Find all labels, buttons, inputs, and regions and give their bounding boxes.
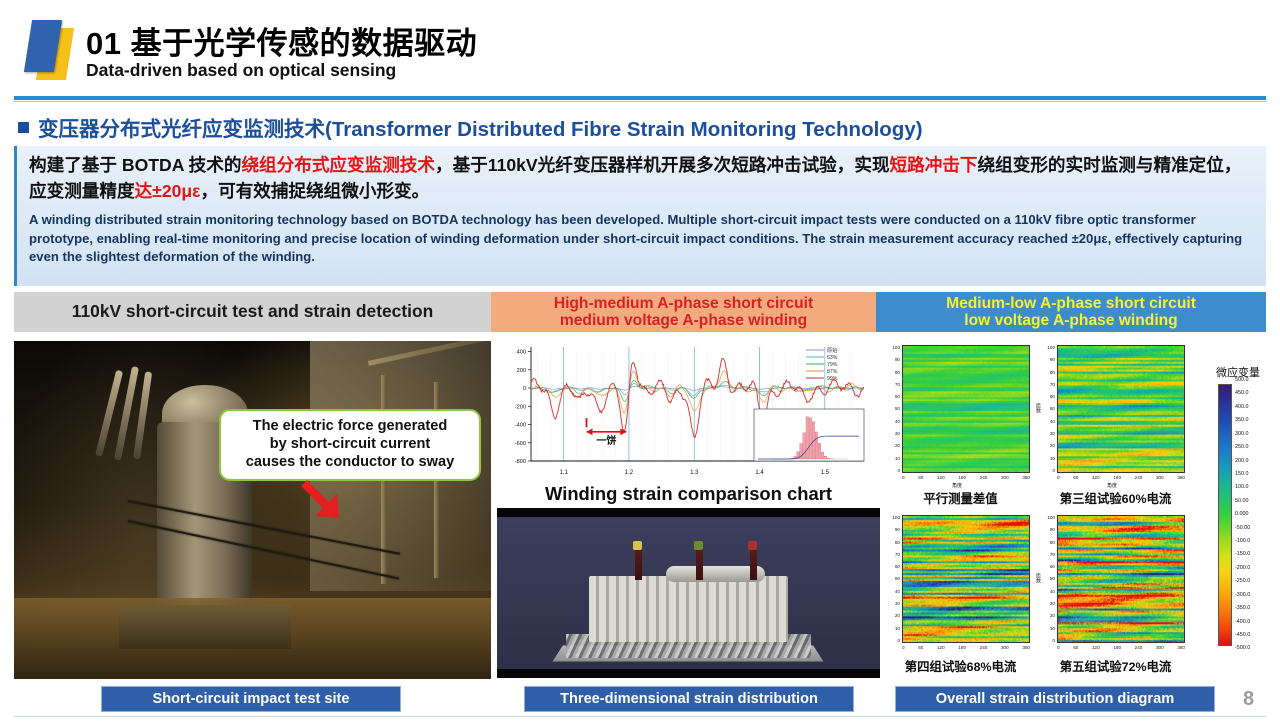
colorbar-tick: 500.0 xyxy=(1235,378,1277,383)
colorbar-tick: 50.00 xyxy=(1235,499,1277,504)
three-dimensional-strain-image xyxy=(497,508,880,678)
td-bushing-cap-2 xyxy=(694,541,703,550)
banner-right: Medium-low A-phase short circuit low vol… xyxy=(876,292,1266,332)
heatmap-panel-1: 1009080706050403020100 匝数 06012018024030… xyxy=(1043,341,1188,509)
page-number: 8 xyxy=(1243,688,1254,711)
caption-middle: Three-dimensional strain distribution xyxy=(524,686,854,712)
banner-middle-line1: High-medium A-phase short circuit xyxy=(554,295,813,312)
zh-highlight-2: 短路冲击下 xyxy=(890,155,978,175)
heatmap-1-caption: 第三组试验60%电流 xyxy=(1043,489,1188,507)
svg-text:200: 200 xyxy=(517,368,526,374)
heatmap-1-ylabel: 匝数 xyxy=(1035,403,1042,413)
slide-root: 01 基于光学传感的数据驱动 Data-driven based on opti… xyxy=(0,0,1280,723)
heatmap-ytick: 70 xyxy=(895,552,900,557)
heatmap-2-xticks: 060120180240300360 xyxy=(902,645,1030,650)
bullet-square-icon xyxy=(18,122,29,133)
banner-right-line2: low voltage A-phase winding xyxy=(946,312,1196,329)
heatmap-ytick: 0 xyxy=(897,468,900,473)
heatmap-3-ylabel: 匝数 xyxy=(1035,573,1042,583)
heatmap-3-xticks: 060120180240300360 xyxy=(1057,645,1185,650)
heatmap-xtick: 300 xyxy=(1001,645,1009,650)
heatmap-ytick: 90 xyxy=(895,357,900,362)
heatmap-xtick: 360 xyxy=(1022,645,1030,650)
heatmap-ytick: 90 xyxy=(1050,527,1055,532)
svg-text:1.1: 1.1 xyxy=(559,470,568,476)
column-banner-row: 110kV short-circuit test and strain dete… xyxy=(14,292,1266,332)
colorbar-tick: 250.0 xyxy=(1235,445,1277,450)
heatmap-xtick: 0 xyxy=(1057,475,1060,480)
heatmap-xtick: 120 xyxy=(937,475,945,480)
heatmap-ytick: 10 xyxy=(1050,456,1055,461)
heatmap-ytick: 70 xyxy=(1050,552,1055,557)
svg-text:1.4: 1.4 xyxy=(755,470,764,476)
zh-highlight-1: 绕组分布式应变监测技术 xyxy=(241,155,435,175)
heatmap-ytick: 90 xyxy=(895,527,900,532)
heatmap-xtick: 180 xyxy=(958,475,966,480)
td-bushing-cap-1 xyxy=(633,541,642,550)
td-bushing-cap-3 xyxy=(748,541,757,550)
heatmap-ytick: 30 xyxy=(895,601,900,606)
heatmap-xtick: 240 xyxy=(1135,645,1143,650)
heatmap-xtick: 180 xyxy=(958,645,966,650)
slide-header: 01 基于光学传感的数据驱动 Data-driven based on opti… xyxy=(0,0,1280,96)
svg-text:1.3: 1.3 xyxy=(690,470,699,476)
colorbar-tick: 350.0 xyxy=(1235,418,1277,423)
heatmap-ytick: 30 xyxy=(1050,601,1055,606)
colorbar-tick: -350.0 xyxy=(1235,606,1277,611)
heatmap-1-plot xyxy=(1057,345,1185,473)
heatmap-ytick: 100 xyxy=(1047,345,1055,350)
heatmap-xtick: 240 xyxy=(980,645,988,650)
heatmap-ytick: 70 xyxy=(1050,382,1055,387)
heatmap-ytick: 40 xyxy=(895,589,900,594)
heatmap-ytick: 30 xyxy=(895,431,900,436)
zh-text-4: ，可有效捕捉绕组微小形变。 xyxy=(201,181,430,201)
svg-text:0: 0 xyxy=(523,386,526,392)
heatmap-ytick: 100 xyxy=(892,345,900,350)
zh-text-2: ，基于110kV光纤变压器样机开展多次短路冲击试验，实现 xyxy=(435,155,890,175)
heatmap-xtick: 60 xyxy=(918,645,923,650)
callout-line-3: causes the conductor to sway xyxy=(229,454,471,472)
heatmap-0-plot xyxy=(902,345,1030,473)
heatmap-xtick: 240 xyxy=(980,475,988,480)
heatmap-ytick: 10 xyxy=(1050,626,1055,631)
heatmap-ytick: 50 xyxy=(895,406,900,411)
header-divider-thin xyxy=(14,101,1266,102)
td-winding-core xyxy=(589,576,788,642)
heatmap-xtick: 120 xyxy=(1092,645,1100,650)
colorbar-tick: -50.00 xyxy=(1235,526,1277,531)
heatmap-ytick: 0 xyxy=(1052,468,1055,473)
heatmap-1-canvas xyxy=(1058,346,1184,472)
heatmap-xtick: 180 xyxy=(1113,645,1121,650)
colorbar-tick: 450.0 xyxy=(1235,391,1277,396)
heatmap-3-canvas xyxy=(1058,516,1184,642)
heatmap-ytick: 70 xyxy=(895,382,900,387)
heatmap-ytick: 40 xyxy=(1050,589,1055,594)
heatmap-xtick: 60 xyxy=(1073,475,1078,480)
colorbar-tick: 150.0 xyxy=(1235,472,1277,477)
banner-middle: High-medium A-phase short circuit medium… xyxy=(491,292,876,332)
heatmap-ytick: 0 xyxy=(1052,638,1055,643)
strain-colorbar: 微应变量 500.0450.0400.0350.0300.0250.0200.0… xyxy=(1216,364,1278,664)
colorbar-tick: -500.0 xyxy=(1235,646,1277,651)
heatmap-xtick: 120 xyxy=(1092,475,1100,480)
banner-left: 110kV short-circuit test and strain dete… xyxy=(14,292,491,332)
heatmap-ytick: 50 xyxy=(1050,406,1055,411)
photo-bushing-3 xyxy=(133,372,152,460)
heatmap-xtick: 0 xyxy=(902,645,905,650)
body-paragraph-zh: 构建了基于 BOTDA 技术的绕组分布式应变监测技术，基于110kV光纤变压器样… xyxy=(29,153,1254,204)
heatmap-0-xticks: 060120180240300360 xyxy=(902,475,1030,480)
svg-text:79%: 79% xyxy=(827,362,838,368)
svg-text:-400: -400 xyxy=(515,423,526,429)
callout-line-2: by short-circuit current xyxy=(229,436,471,454)
winding-strain-chart: 1.11.21.31.41.54002000-200-400-600-800原始… xyxy=(497,341,880,481)
heatmap-ytick: 20 xyxy=(1050,613,1055,618)
photo-pedestal xyxy=(119,605,291,649)
heatmap-xtick: 360 xyxy=(1022,475,1030,480)
heatmap-xtick: 300 xyxy=(1156,475,1164,480)
heatmap-ytick: 10 xyxy=(895,626,900,631)
caption-left: Short-circuit impact test site xyxy=(101,686,401,712)
heatmap-ytick: 0 xyxy=(897,638,900,643)
header-divider xyxy=(14,96,1266,100)
svg-text:99%: 99% xyxy=(827,376,838,382)
svg-text:1.5: 1.5 xyxy=(821,470,830,476)
zh-text-1: 构建了基于 BOTDA 技术的 xyxy=(29,155,241,175)
body-panel: 构建了基于 BOTDA 技术的绕组分布式应变监测技术，基于110kV光纤变压器样… xyxy=(14,146,1266,286)
td-bushing-2 xyxy=(696,546,703,580)
colorbar-tick: -250.0 xyxy=(1235,579,1277,584)
colorbar-tick: 400.0 xyxy=(1235,405,1277,410)
strain-chart-svg: 1.11.21.31.41.54002000-200-400-600-800原始… xyxy=(497,341,880,481)
heatmap-xtick: 360 xyxy=(1177,645,1185,650)
colorbar-tick: -450.0 xyxy=(1235,633,1277,638)
logo-icon xyxy=(24,18,84,82)
colorbar-gradient xyxy=(1218,384,1232,646)
heatmap-ytick: 40 xyxy=(1050,419,1055,424)
heatmap-xtick: 240 xyxy=(1135,475,1143,480)
caption-right: Overall strain distribution diagram xyxy=(895,686,1215,712)
page-title-en: Data-driven based on optical sensing xyxy=(86,60,396,81)
heatmap-panel-0: 1009080706050403020100 06012018024030036… xyxy=(888,341,1033,509)
heatmap-ytick: 50 xyxy=(1050,576,1055,581)
heatmap-ytick: 60 xyxy=(1050,394,1055,399)
heatmap-1-xticks: 060120180240300360 xyxy=(1057,475,1185,480)
colorbar-tick: 300.0 xyxy=(1235,432,1277,437)
heatmap-2-caption: 第四组试验68%电流 xyxy=(888,657,1033,675)
test-site-photo: The electric force generated by short-ci… xyxy=(14,341,491,679)
heatmap-xtick: 0 xyxy=(902,475,905,480)
heatmap-xtick: 60 xyxy=(1073,645,1078,650)
heatmap-0-canvas xyxy=(903,346,1029,472)
heatmap-ytick: 40 xyxy=(895,419,900,424)
svg-text:400: 400 xyxy=(517,350,526,356)
heatmap-0-caption: 平行测量差值 xyxy=(888,489,1033,507)
section-heading: 变压器分布式光纤应变监测技术(Transformer Distributed F… xyxy=(18,110,1268,144)
overall-strain-heatmap-grid: 1009080706050403020100 06012018024030036… xyxy=(888,341,1188,679)
heatmap-ytick: 80 xyxy=(895,370,900,375)
heatmap-xtick: 360 xyxy=(1177,475,1185,480)
heatmap-ytick: 60 xyxy=(895,564,900,569)
colorbar-tick: -200.0 xyxy=(1235,566,1277,571)
heatmap-ytick: 100 xyxy=(1047,515,1055,520)
heatmap-ytick: 80 xyxy=(895,540,900,545)
colorbar-tick: 200.0 xyxy=(1235,459,1277,464)
svg-text:87%: 87% xyxy=(827,369,838,375)
callout-line-1: The electric force generated xyxy=(229,418,471,436)
footer-divider xyxy=(14,716,1266,717)
heatmap-ytick: 20 xyxy=(895,443,900,448)
heatmap-ytick: 30 xyxy=(1050,431,1055,436)
heatmap-1-yticks: 1009080706050403020100 xyxy=(1043,345,1055,473)
banner-middle-line2: medium voltage A-phase winding xyxy=(554,312,813,329)
heatmap-ytick: 80 xyxy=(1050,370,1055,375)
heatmap-ytick: 100 xyxy=(892,515,900,520)
body-paragraph-en: A winding distributed strain monitoring … xyxy=(29,211,1254,267)
colorbar-tick: -100.0 xyxy=(1235,539,1277,544)
heatmap-3-caption: 第五组试验72%电流 xyxy=(1043,657,1188,675)
red-arrow-icon xyxy=(299,476,345,522)
colorbar-tick: 0.000 xyxy=(1235,512,1277,517)
heatmap-2-canvas xyxy=(903,516,1029,642)
td-bushing-3 xyxy=(750,546,757,580)
svg-text:-800: -800 xyxy=(515,459,526,465)
heatmap-panel-2: 1009080706050403020100 06012018024030036… xyxy=(888,511,1033,679)
heatmap-3-yticks: 1009080706050403020100 xyxy=(1043,515,1055,643)
heatmap-2-plot xyxy=(902,515,1030,643)
winding-strain-chart-caption: Winding strain comparison chart xyxy=(497,483,880,505)
heatmap-ytick: 50 xyxy=(895,576,900,581)
section-heading-label: 变压器分布式光纤应变监测技术(Transformer Distributed F… xyxy=(38,112,923,142)
zh-highlight-3: 达±20με xyxy=(135,181,201,201)
svg-text:63%: 63% xyxy=(827,355,838,361)
photo-callout: The electric force generated by short-ci… xyxy=(219,409,481,481)
colorbar-tick: 100.0 xyxy=(1235,485,1277,490)
heatmap-3-plot xyxy=(1057,515,1185,643)
colorbar-tick: -400.0 xyxy=(1235,620,1277,625)
page-title-zh: 01 基于光学传感的数据驱动 xyxy=(86,18,477,63)
td-bushing-1 xyxy=(635,546,642,580)
heatmap-ytick: 20 xyxy=(1050,443,1055,448)
colorbar-labels: 500.0450.0400.0350.0300.0250.0200.0150.0… xyxy=(1235,378,1277,652)
heatmap-2-yticks: 1009080706050403020100 xyxy=(888,515,900,643)
colorbar-tick: -150.0 xyxy=(1235,552,1277,557)
heatmap-1-xlabel: 角度 xyxy=(1107,482,1117,489)
heatmap-xtick: 300 xyxy=(1001,475,1009,480)
heatmap-xtick: 180 xyxy=(1113,475,1121,480)
heatmap-0-xlabel: 角度 xyxy=(952,482,962,489)
svg-text:-600: -600 xyxy=(515,441,526,447)
heatmap-xtick: 120 xyxy=(937,645,945,650)
heatmap-xtick: 60 xyxy=(918,475,923,480)
heatmap-ytick: 90 xyxy=(1050,357,1055,362)
heatmap-ytick: 10 xyxy=(895,456,900,461)
svg-text:-200: -200 xyxy=(515,404,526,410)
colorbar-tick: -300.0 xyxy=(1235,593,1277,598)
heatmap-ytick: 20 xyxy=(895,613,900,618)
heatmap-ytick: 60 xyxy=(895,394,900,399)
heatmap-xtick: 300 xyxy=(1156,645,1164,650)
heatmap-ytick: 60 xyxy=(1050,564,1055,569)
heatmap-panel-3: 1009080706050403020100 匝数 06012018024030… xyxy=(1043,511,1188,679)
heatmap-ytick: 80 xyxy=(1050,540,1055,545)
heatmap-xtick: 0 xyxy=(1057,645,1060,650)
svg-text:原始: 原始 xyxy=(827,346,838,354)
banner-right-line1: Medium-low A-phase short circuit xyxy=(946,295,1196,312)
svg-text:一饼: 一饼 xyxy=(596,434,616,447)
svg-text:1.2: 1.2 xyxy=(625,470,634,476)
heatmap-0-yticks: 1009080706050403020100 xyxy=(888,345,900,473)
